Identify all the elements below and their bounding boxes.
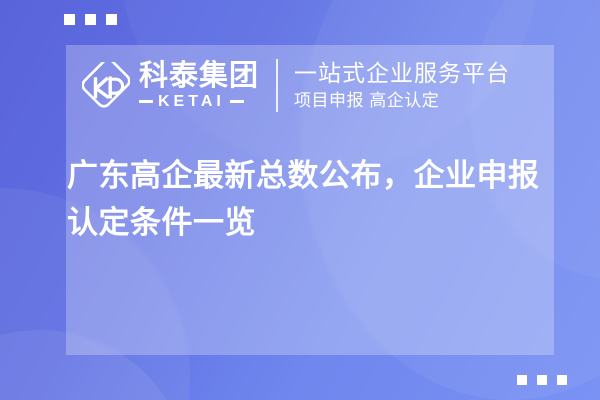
vertical-divider <box>276 59 278 112</box>
decorative-squares-bottom-right <box>517 375 567 385</box>
decorative-square <box>537 375 547 385</box>
ketai-monogram-logo-icon <box>82 62 130 110</box>
decorative-squares-top-left <box>64 14 117 25</box>
tagline-sub: 项目申报 高企认定 <box>294 90 510 112</box>
brand-wordmark: 科泰集团 KETAI <box>139 61 259 109</box>
brand-name-cn: 科泰集团 <box>139 61 259 92</box>
article-cover-banner: 科泰集团 KETAI 一站式企业服务平台 项目申报 高企认定 广东高企最新总数公… <box>0 0 600 400</box>
brand-name-en-row: KETAI <box>139 94 259 110</box>
brand-name-en: KETAI <box>158 94 225 110</box>
brand-row: 科泰集团 KETAI 一站式企业服务平台 项目申报 高企认定 <box>78 48 554 123</box>
tagline-block: 一站式企业服务平台 项目申报 高企认定 <box>294 59 510 112</box>
decorative-square <box>106 14 117 25</box>
page-title: 广东高企最新总数公布，企业申报认定条件一览 <box>67 152 545 246</box>
decorative-square <box>85 14 96 25</box>
content-card: 科泰集团 KETAI 一站式企业服务平台 项目申报 高企认定 广东高企最新总数公… <box>66 45 554 355</box>
decorative-square <box>557 375 567 385</box>
dash-right-icon <box>230 100 244 103</box>
decorative-square <box>64 14 75 25</box>
dash-left-icon <box>139 100 153 103</box>
decorative-square <box>517 375 527 385</box>
tagline-main: 一站式企业服务平台 <box>294 59 510 87</box>
